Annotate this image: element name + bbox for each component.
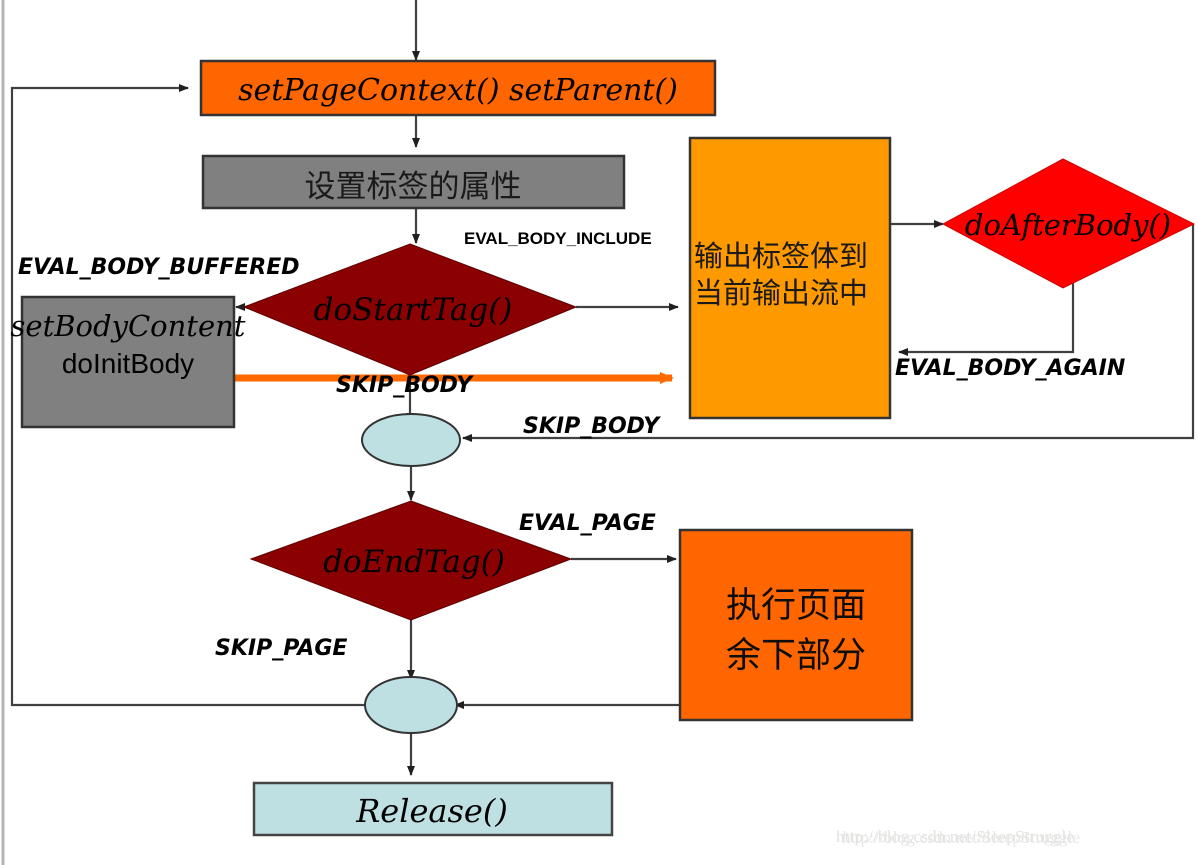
edge-label-skip-page: SKIP_PAGE xyxy=(215,636,347,661)
diagram-canvas: setPageContext() setParent() 设置标签的属性 doS… xyxy=(0,0,1198,865)
node-doendtag-label: doEndTag() xyxy=(323,544,505,580)
node-outputbody-label-2: 当前输出流中 xyxy=(694,276,868,310)
edge-label-eval-page: EVAL_PAGE xyxy=(519,511,656,536)
edge-label-eval-body-include: EVAL_BODY_INCLUDE xyxy=(464,229,652,248)
node-setattrs[interactable]: 设置标签的属性 xyxy=(203,156,624,208)
node-runrest-label-1: 执行页面 xyxy=(726,586,866,626)
node-runrest[interactable]: 执行页面 余下部分 xyxy=(680,530,912,720)
flowchart-svg: setPageContext() setParent() 设置标签的属性 doS… xyxy=(0,0,1198,865)
edge-label-eval-body-buffered: EVAL_BODY_BUFFERED xyxy=(18,255,300,280)
edge-doafterbody-again xyxy=(899,283,1073,352)
node-setattrs-label: 设置标签的属性 xyxy=(305,169,522,205)
watermark-text-2: http://blog.csdn.net/SleepStruggle xyxy=(842,828,1080,848)
node-setpagecontext[interactable]: setPageContext() setParent() xyxy=(201,61,715,115)
node-doafterbody[interactable]: doAfterBody() xyxy=(943,159,1194,288)
node-dostarttag-label: doStartTag() xyxy=(314,292,513,328)
node-outputbody-label-1: 输出标签体到 xyxy=(694,239,868,273)
node-doafterbody-label: doAfterBody() xyxy=(965,208,1171,242)
node-release[interactable]: Release() xyxy=(254,783,612,835)
node-junction1[interactable] xyxy=(362,414,460,466)
node-setbodycontent-label-1: setBodyContent xyxy=(11,309,246,343)
node-runrest-label-2: 余下部分 xyxy=(726,636,866,676)
node-release-label: Release() xyxy=(355,792,508,830)
node-setbodycontent-label-2: doInitBody xyxy=(62,348,194,379)
node-setbodycontent[interactable]: setBodyContent doInitBody xyxy=(11,297,246,427)
watermark: http://blog.csdn.net/SleepStruggle http:… xyxy=(836,827,1074,847)
edge-label-eval-body-again: EVAL_BODY_AGAIN xyxy=(895,356,1125,381)
node-setpagecontext-label: setPageContext() setParent() xyxy=(238,73,678,108)
node-outputbody[interactable]: 输出标签体到 当前输出流中 xyxy=(690,138,890,418)
node-junction2[interactable] xyxy=(365,677,457,733)
edge-label-skip-body-right: SKIP_BODY xyxy=(523,414,661,439)
edge-label-skip-body-left: SKIP_BODY xyxy=(336,373,474,398)
